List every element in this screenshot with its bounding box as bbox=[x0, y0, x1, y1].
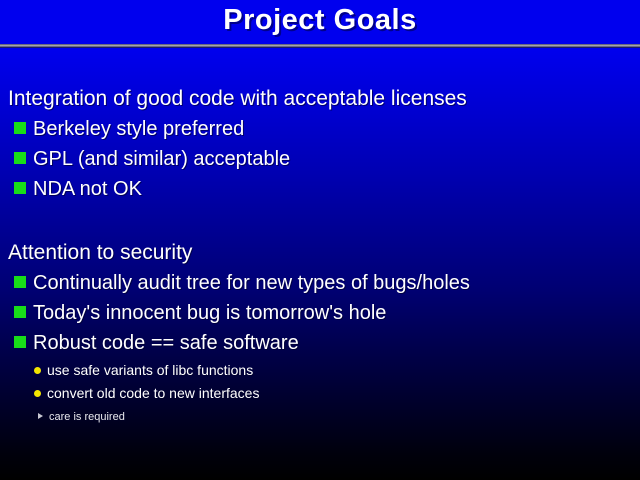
green-square-bullet-icon bbox=[14, 182, 26, 194]
green-square-bullet-icon bbox=[14, 336, 26, 348]
yellow-dot-bullet-icon bbox=[34, 367, 41, 374]
sub-sub-bullet-label: care is required bbox=[49, 411, 125, 423]
bullet-label: Berkeley style preferred bbox=[33, 118, 244, 140]
slide-title: Project Goals bbox=[0, 4, 640, 37]
bullet-item-berkeley-style: Berkeley style preferred bbox=[14, 118, 244, 141]
bullet-item-continually-audit-tree: Continually audit tree for new types of … bbox=[14, 272, 470, 295]
bullet-label: GPL (and similar) acceptable bbox=[33, 148, 290, 170]
bullet-item-gpl-acceptable: GPL (and similar) acceptable bbox=[14, 148, 290, 171]
bullet-label: NDA not OK bbox=[33, 178, 142, 200]
green-square-bullet-icon bbox=[14, 276, 26, 288]
sub-bullet-label: convert old code to new interfaces bbox=[47, 385, 259, 401]
yellow-dot-bullet-icon bbox=[34, 390, 41, 397]
sub-bullet-item-convert-old-code: convert old code to new interfaces bbox=[34, 385, 259, 402]
sub-bullet-label: use safe variants of libc functions bbox=[47, 362, 253, 378]
presentation-slide: Project Goals Integration of good code w… bbox=[0, 0, 640, 480]
bullet-label: Continually audit tree for new types of … bbox=[33, 272, 470, 294]
bullet-item-robust-code: Robust code == safe software bbox=[14, 332, 299, 355]
bullet-item-innocent-bug: Today's innocent bug is tomorrow's hole bbox=[14, 302, 386, 325]
bullet-item-nda-not-ok: NDA not OK bbox=[14, 178, 142, 201]
section-heading-licenses: Integration of good code with acceptable… bbox=[8, 87, 467, 111]
slide-content-list: Integration of good code with acceptable… bbox=[0, 48, 640, 480]
sub-bullet-item-safe-libc-variants: use safe variants of libc functions bbox=[34, 362, 253, 379]
bullet-label: Robust code == safe software bbox=[33, 332, 299, 354]
section-heading-security: Attention to security bbox=[8, 241, 192, 265]
gray-triangle-bullet-icon bbox=[38, 413, 43, 419]
sub-sub-bullet-item-care-is-required: care is required bbox=[38, 410, 125, 424]
slide-body: Integration of good code with acceptable… bbox=[0, 48, 640, 480]
bullet-label: Today's innocent bug is tomorrow's hole bbox=[33, 302, 386, 324]
green-square-bullet-icon bbox=[14, 306, 26, 318]
green-square-bullet-icon bbox=[14, 152, 26, 164]
slide-title-band: Project Goals bbox=[0, 0, 640, 44]
green-square-bullet-icon bbox=[14, 122, 26, 134]
